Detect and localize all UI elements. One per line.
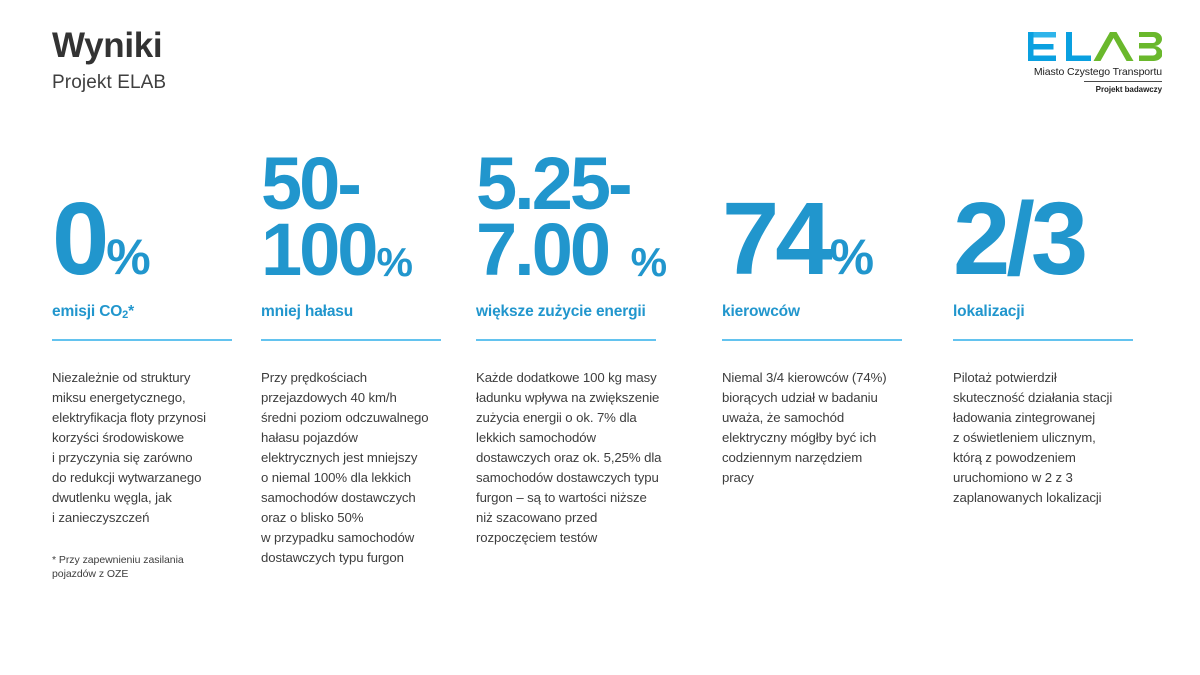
stat-figure-wrap: 0% [52, 150, 261, 284]
stat-unit: % [376, 242, 411, 283]
stat-label-suffix: * [128, 303, 134, 320]
elab-logo: Miasto Czystego Transportu Projekt badaw… [1017, 30, 1162, 94]
stat-label-text: lokalizacji [953, 303, 1025, 320]
stat-label-text: kierowców [722, 303, 800, 320]
stat-unit: % [631, 242, 666, 283]
stat-label-subscript: 2 [122, 309, 128, 321]
stat-label-text: większe zużycie energii [476, 303, 646, 320]
stat-unit: % [106, 232, 149, 282]
stat-figure-wrap: 74% [722, 150, 953, 284]
stat-divider [722, 339, 902, 341]
stat-figure: 2/3 [953, 195, 1084, 284]
stat-divider [476, 339, 656, 341]
stat-label-text: emisji CO [52, 303, 122, 320]
stat-figure: 0 [52, 195, 105, 284]
page-subtitle: Projekt ELAB [52, 72, 166, 94]
stat-figure: 50- 100 [261, 151, 375, 284]
stat-figure-wrap: 5.25- 7.00% [476, 150, 722, 284]
stat-label: kierowców [722, 303, 953, 321]
stat-card: 0% emisji CO2* Niezależnie od struktury … [52, 150, 261, 593]
stat-body: Przy prędkościach przejazdowych 40 km/h … [261, 368, 476, 568]
stat-figure: 74 [722, 195, 829, 284]
stat-label-text: mniej hałasu [261, 303, 353, 320]
stat-divider [953, 339, 1133, 341]
stat-card: 74% kierowców Niemal 3/4 kierowców (74%)… [722, 150, 953, 593]
stat-label: emisji CO2* [52, 303, 261, 321]
logo-divider [1084, 81, 1162, 82]
stat-body: Niemal 3/4 kierowców (74%) biorących udz… [722, 368, 953, 488]
stat-card: 2/3 lokalizacji Pilotaż potwierdził skut… [953, 150, 1152, 593]
stat-card: 5.25- 7.00% większe zużycie energii Każd… [476, 150, 722, 593]
stats-grid: 0% emisji CO2* Niezależnie od struktury … [52, 150, 1152, 593]
stat-label: lokalizacji [953, 303, 1152, 321]
stat-footnote: * Przy zapewnieniu zasilania pojazdów z … [52, 553, 261, 581]
stat-figure-wrap: 50- 100% [261, 150, 476, 284]
elab-wordmark-icon [1026, 30, 1162, 63]
page-header: Wyniki Projekt ELAB [52, 28, 166, 94]
stat-unit: % [830, 232, 873, 282]
logo-subtitle: Projekt badawczy [1017, 85, 1162, 94]
stat-label: mniej hałasu [261, 303, 476, 321]
logo-tagline: Miasto Czystego Transportu [1017, 66, 1162, 78]
stat-figure-wrap: 2/3 [953, 150, 1152, 284]
stat-label: większe zużycie energii [476, 303, 722, 321]
stat-divider [261, 339, 441, 341]
stat-body: Pilotaż potwierdził skuteczność działani… [953, 368, 1152, 508]
stat-card: 50- 100% mniej hałasu Przy prędkościach … [261, 150, 476, 593]
stat-body: Każde dodatkowe 100 kg masy ładunku wpły… [476, 368, 722, 548]
stat-divider [52, 339, 232, 341]
stat-figure: 5.25- 7.00 [476, 151, 630, 284]
stat-body: Niezależnie od struktury miksu energetyc… [52, 368, 261, 528]
page-title: Wyniki [52, 28, 166, 65]
